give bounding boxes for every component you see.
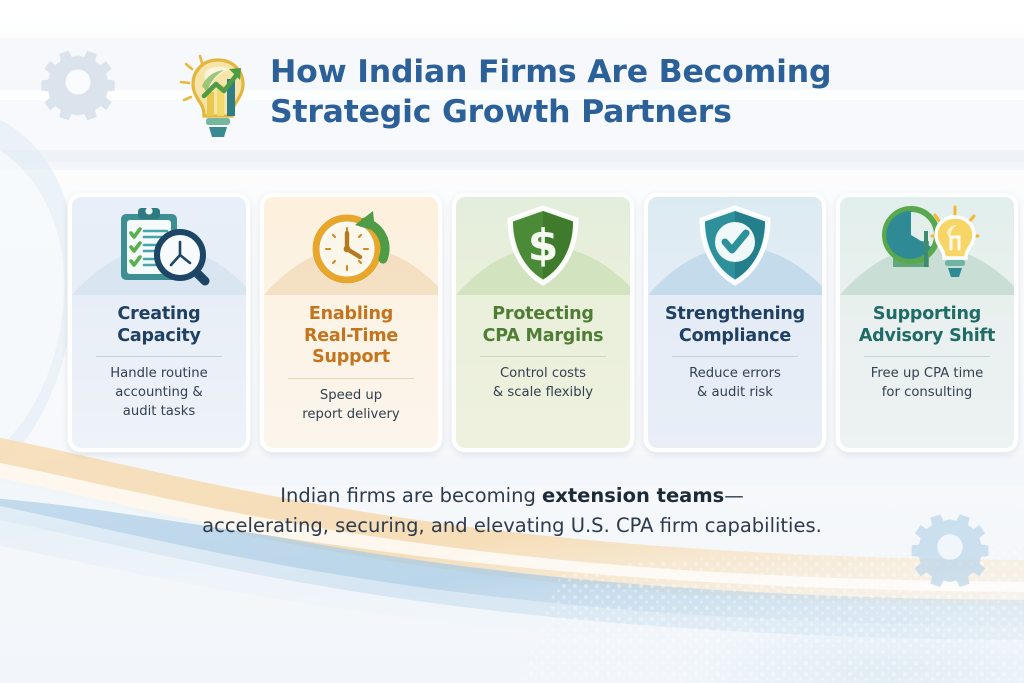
card-description: Free up CPA time for consulting [863, 365, 991, 403]
card-description: Reduce errors & audit risk [681, 365, 789, 403]
card-title: Strengthening Compliance [665, 304, 805, 347]
card-divider [288, 378, 414, 379]
page-header: How Indian Firms Are Becoming Strategic … [178, 48, 831, 142]
card-description: Control costs & scale flexibly [485, 365, 601, 403]
shield-dollar-icon: $ [503, 204, 583, 288]
card-strengthening-compliance[interactable]: Strengthening Compliance Reduce errors &… [644, 193, 826, 452]
card-title: Supporting Advisory Shift [859, 304, 995, 347]
card-divider [672, 356, 798, 357]
caption-line-1-post: — [724, 484, 744, 507]
card-divider [480, 356, 606, 357]
card-icon-zone: $ [456, 197, 630, 295]
lightbulb-growth-chart-icon [178, 52, 256, 142]
svg-text:$: $ [528, 220, 559, 271]
card-title: Enabling Real-Time Support [304, 304, 398, 369]
card-creating-capacity[interactable]: Creating Capacity Handle routine account… [68, 193, 250, 452]
caption-line-1-pre: Indian firms are becoming [280, 484, 542, 507]
card-protecting-cpa-margins[interactable]: $ Protecting CPA Margins Control costs &… [452, 193, 634, 452]
pie-chart-lightbulb-icon [873, 205, 981, 287]
caption-line-1: Indian firms are becoming extension team… [0, 481, 1024, 511]
summary-caption: Indian firms are becoming extension team… [0, 481, 1024, 540]
card-supporting-advisory-shift[interactable]: Supporting Advisory Shift Free up CPA ti… [836, 193, 1018, 452]
card-icon-zone [72, 197, 246, 295]
card-icon-zone [648, 197, 822, 295]
card-description: Handle routine accounting & audit tasks [102, 365, 216, 422]
card-title: Creating Capacity [117, 304, 201, 347]
card-divider [96, 356, 222, 357]
card-description: Speed up report delivery [294, 387, 407, 425]
card-enabling-real-time-support[interactable]: Enabling Real-Time Support Speed up repo… [260, 193, 442, 452]
caption-line-2: accelerating, securing, and elevating U.… [0, 511, 1024, 541]
clock-refresh-arrow-icon [303, 205, 399, 287]
shield-check-icon [695, 204, 775, 288]
caption-highlight: extension teams [542, 484, 724, 507]
card-icon-zone [264, 197, 438, 295]
card-icon-zone [840, 197, 1014, 295]
page-title: How Indian Firms Are Becoming Strategic … [270, 48, 831, 133]
card-title: Protecting CPA Margins [483, 304, 604, 347]
card-divider [864, 356, 990, 357]
benefit-cards-row: Creating Capacity Handle routine account… [68, 193, 1018, 452]
clipboard-checklist-magnifier-clock-icon [107, 205, 211, 287]
